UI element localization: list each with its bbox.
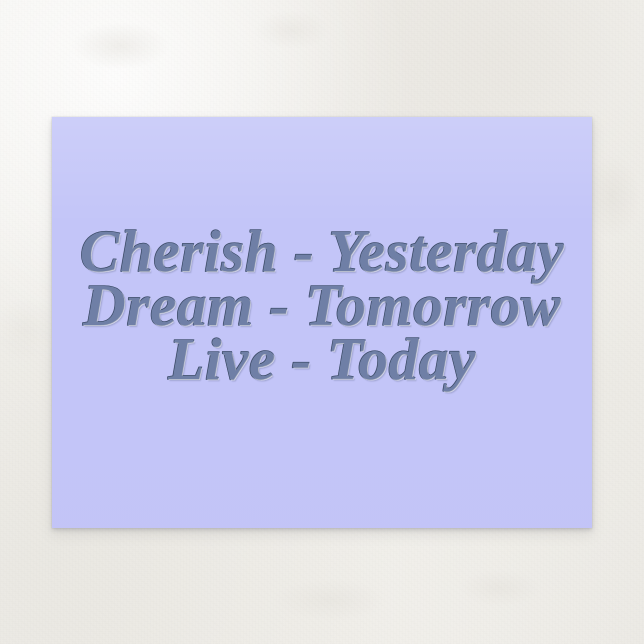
postcard[interactable]: Cherish - Yesterday Dream - Tomorrow Liv… [52,117,592,528]
quote-line-3: Live - Today [168,329,476,389]
product-photo-scene: Cherish - Yesterday Dream - Tomorrow Liv… [0,0,644,644]
quote-block: Cherish - Yesterday Dream - Tomorrow Liv… [52,221,592,390]
